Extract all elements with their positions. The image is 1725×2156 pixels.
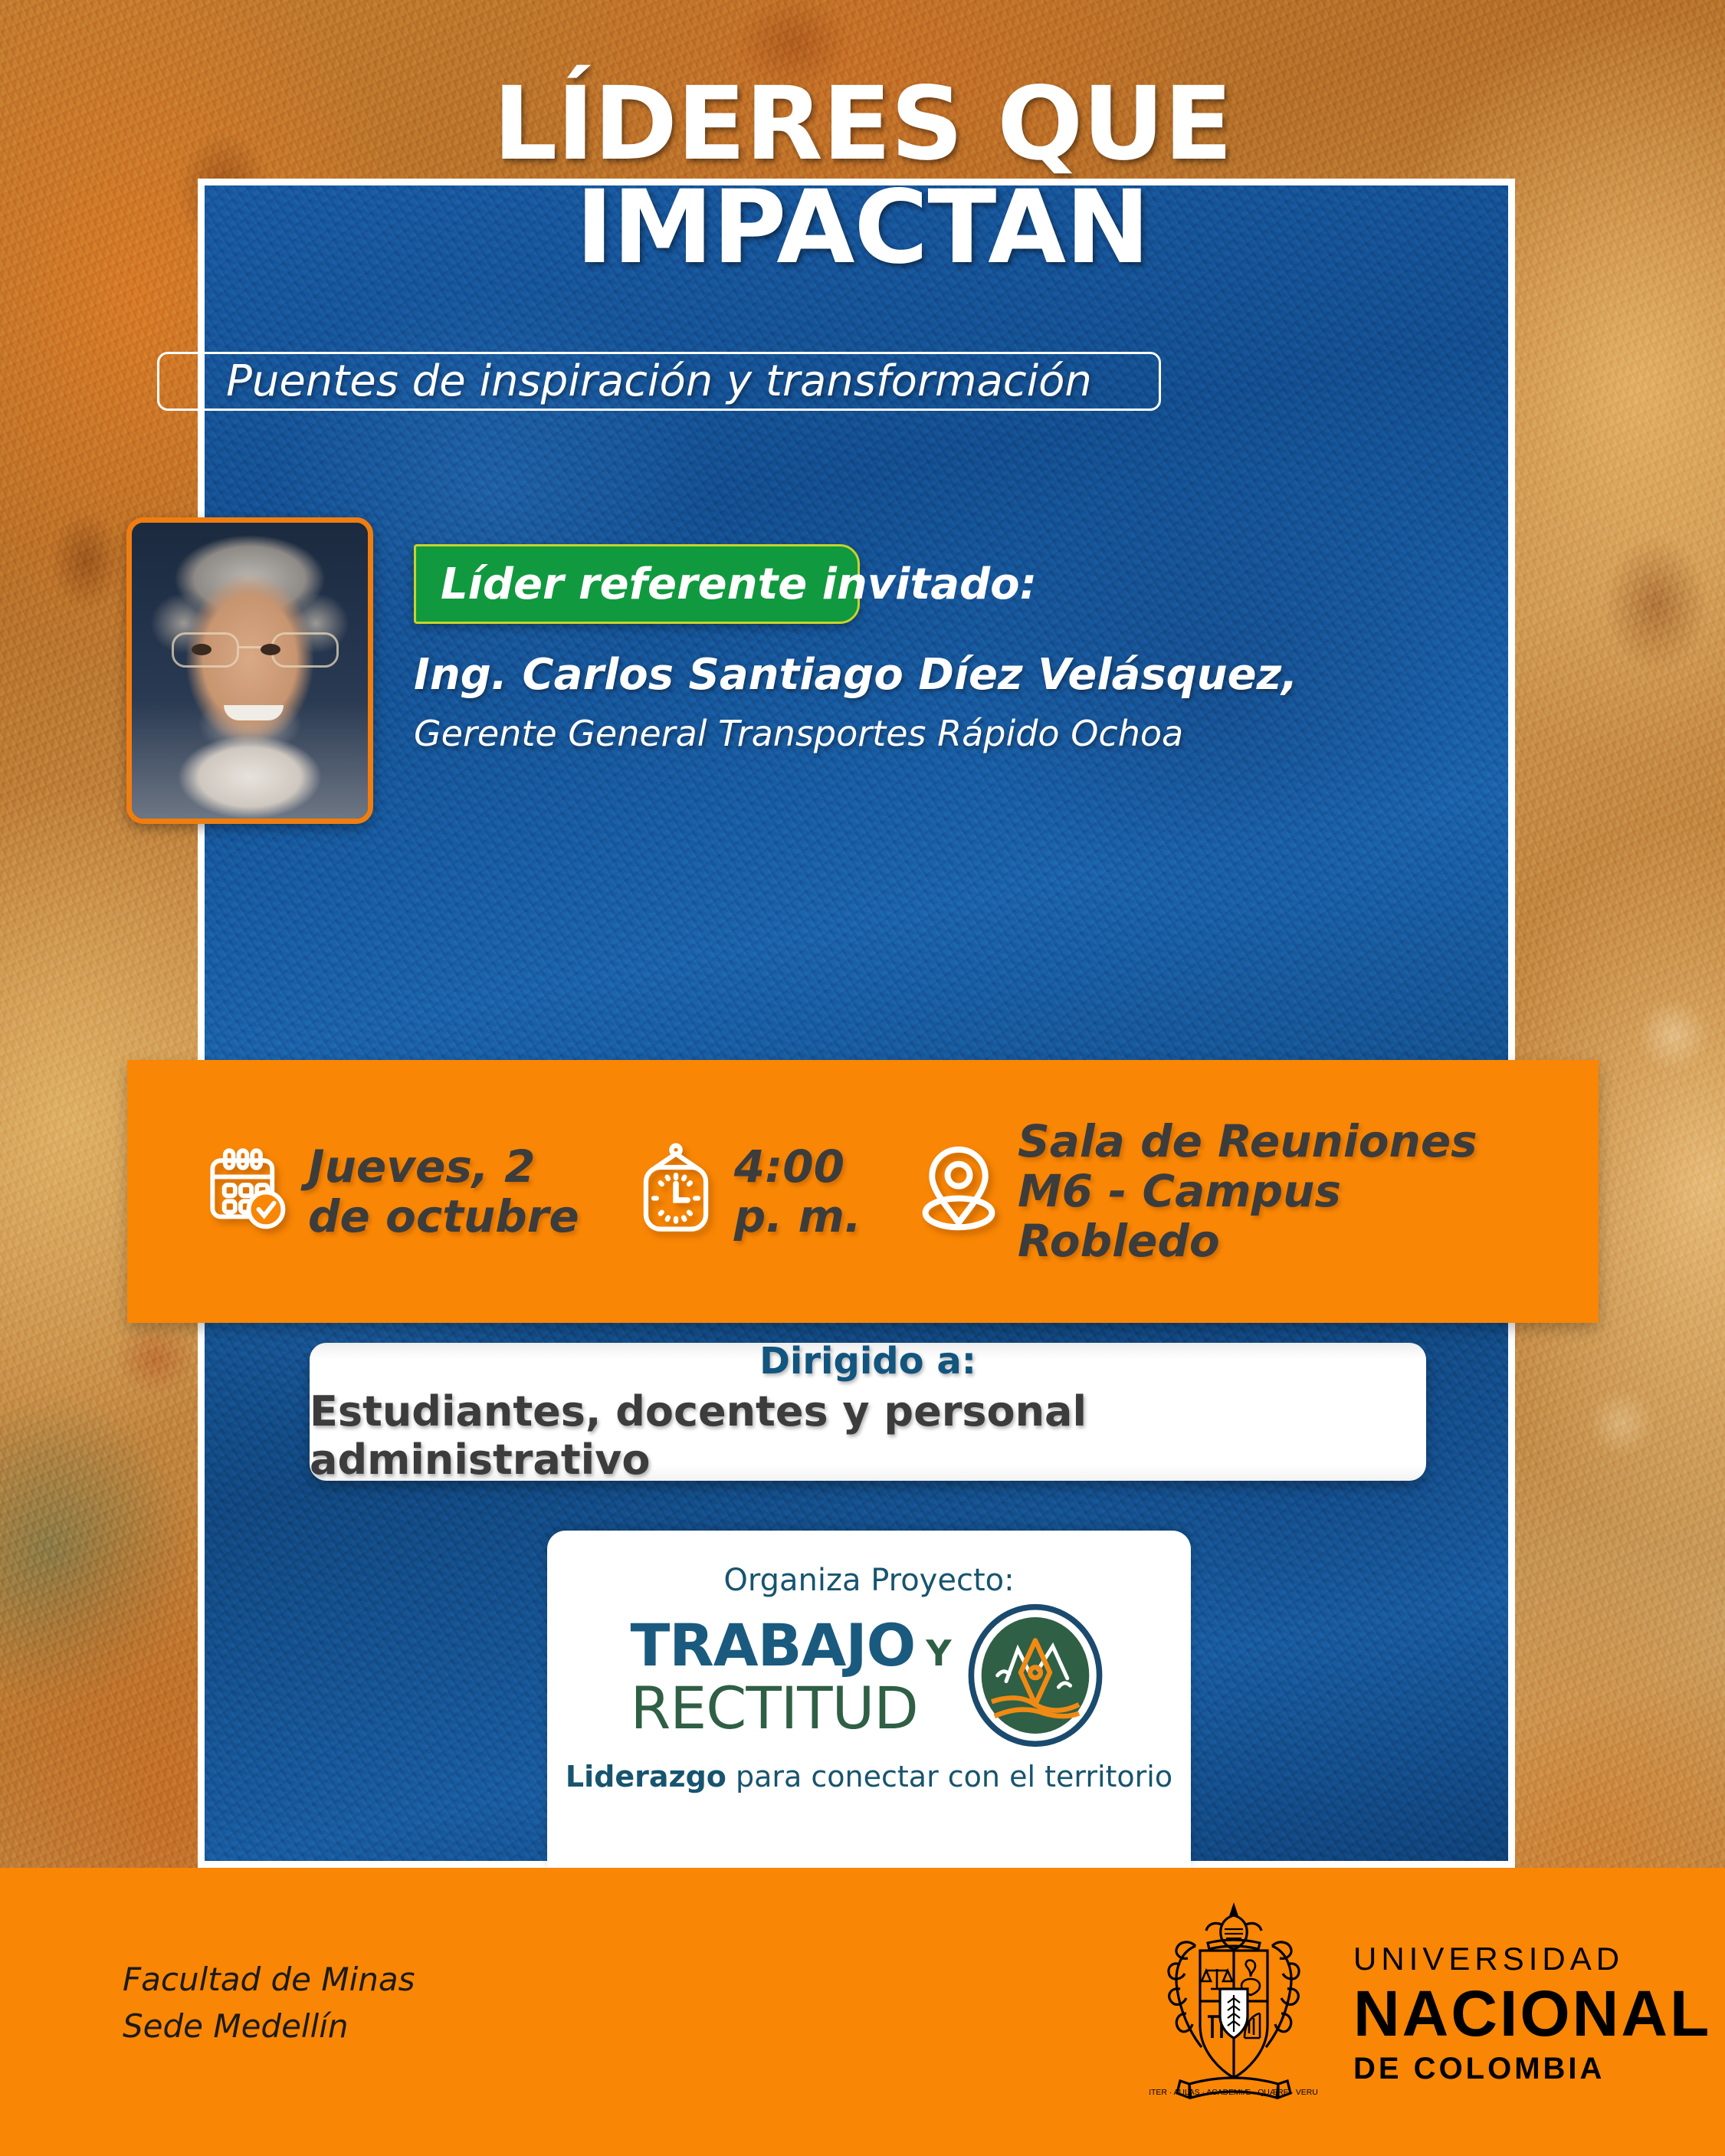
brand-line-1: TRABAJO Y — [630, 1616, 951, 1675]
title-line-1: LÍDERES QUE — [0, 73, 1725, 176]
faculty-line-2: Sede Medellín — [123, 2003, 415, 2050]
brand-tagline-rest: para conectar con el territorio — [726, 1760, 1172, 1793]
event-place-line3: Robledo — [1018, 1215, 1220, 1267]
title-line-2: IMPACTAN — [0, 176, 1725, 280]
speaker-name: Ing. Carlos Santiago Díez Velásquez, — [414, 650, 1287, 700]
brand-conjunction: Y — [926, 1636, 951, 1671]
speaker-photo-frame — [126, 517, 373, 824]
event-info-bar: Jueves, 2 de octubre — [127, 1060, 1599, 1323]
brand-word-trabajo: TRABAJO — [630, 1616, 915, 1675]
speaker-badge: Líder referente invitado: — [414, 544, 860, 624]
speaker-photo — [132, 523, 368, 819]
university-line-1: UNIVERSIDAD — [1353, 1943, 1711, 1975]
speaker-role: Gerente General Transportes Rápido Ochoa — [414, 713, 1287, 754]
eye-right-shape — [261, 644, 280, 655]
event-time-line2: p. m. — [734, 1190, 861, 1242]
event-date-line1: Jueves, 2 — [308, 1140, 535, 1193]
eye-left-shape — [192, 644, 212, 655]
audience-label: Dirigido a: — [759, 1340, 976, 1383]
calendar-check-icon — [201, 1144, 291, 1239]
mouth-shape — [224, 705, 284, 720]
organizer-card: Organiza Proyecto: TRABAJO Y RECTITUD — [547, 1531, 1191, 1868]
location-pin-icon — [917, 1138, 1001, 1245]
audience-card: Dirigido a: Estudiantes, docentes y pers… — [310, 1343, 1426, 1481]
page-title: LÍDERES QUE IMPACTAN — [0, 73, 1725, 279]
faculty-line-1: Facultad de Minas — [123, 1957, 415, 2003]
event-time-text: 4:00 p. m. — [734, 1142, 861, 1242]
compass-mountain-emblem-icon — [963, 1603, 1108, 1752]
brand-lockup: TRABAJO Y RECTITUD — [547, 1603, 1191, 1752]
footer-bar: Facultad de Minas Sede Medellín — [0, 1868, 1725, 2156]
brand-wordmark: TRABAJO Y RECTITUD — [630, 1616, 951, 1739]
speaker-badge-label: Líder referente invitado: — [416, 560, 1037, 609]
organizer-label: Organiza Proyecto: — [547, 1563, 1191, 1598]
university-line-3: DE COLOMBIA — [1353, 2053, 1711, 2084]
unal-coat-of-arms-icon: INTER · AULAS · ACADEMIÆ · QUÆRE · VERUM — [1149, 1900, 1318, 2126]
wall-clock-icon — [635, 1141, 717, 1242]
brand-tagline: Liderazgo para conectar con el territori… — [547, 1760, 1191, 1793]
event-date-line2: de octubre — [308, 1190, 579, 1242]
event-time-item: 4:00 p. m. — [635, 1141, 861, 1242]
university-line-2: NACIONAL — [1353, 1981, 1711, 2046]
event-place-text: Sala de Reuniones M6 - Campus Robledo — [1018, 1117, 1477, 1266]
brand-tagline-bold: Liderazgo — [566, 1760, 726, 1793]
event-place-line1: Sala de Reuniones — [1018, 1115, 1477, 1167]
university-wordmark: UNIVERSIDAD NACIONAL DE COLOMBIA — [1353, 1943, 1711, 2084]
brand-word-rectitud: RECTITUD — [630, 1678, 951, 1739]
svg-text:INTER · AULAS · ACADEMIÆ · QUÆ: INTER · AULAS · ACADEMIÆ · QUÆRE · VERUM — [1149, 2089, 1318, 2097]
subtitle-text: Puentes de inspiración y transformación — [226, 356, 1092, 406]
audience-value: Estudiantes, docentes y personal adminis… — [310, 1387, 1426, 1484]
event-date-item: Jueves, 2 de octubre — [201, 1142, 579, 1242]
event-date-text: Jueves, 2 de octubre — [308, 1142, 579, 1242]
university-logo: INTER · AULAS · ACADEMIÆ · QUÆRE · VERUM… — [1149, 1900, 1711, 2126]
subtitle-pill: Puentes de inspiración y transformación — [157, 352, 1161, 411]
event-time-line1: 4:00 — [734, 1140, 844, 1193]
event-place-line2: M6 - Campus — [1018, 1165, 1341, 1217]
event-place-item: Sala de Reuniones M6 - Campus Robledo — [917, 1117, 1477, 1266]
faculty-text: Facultad de Minas Sede Medellín — [123, 1957, 415, 2050]
